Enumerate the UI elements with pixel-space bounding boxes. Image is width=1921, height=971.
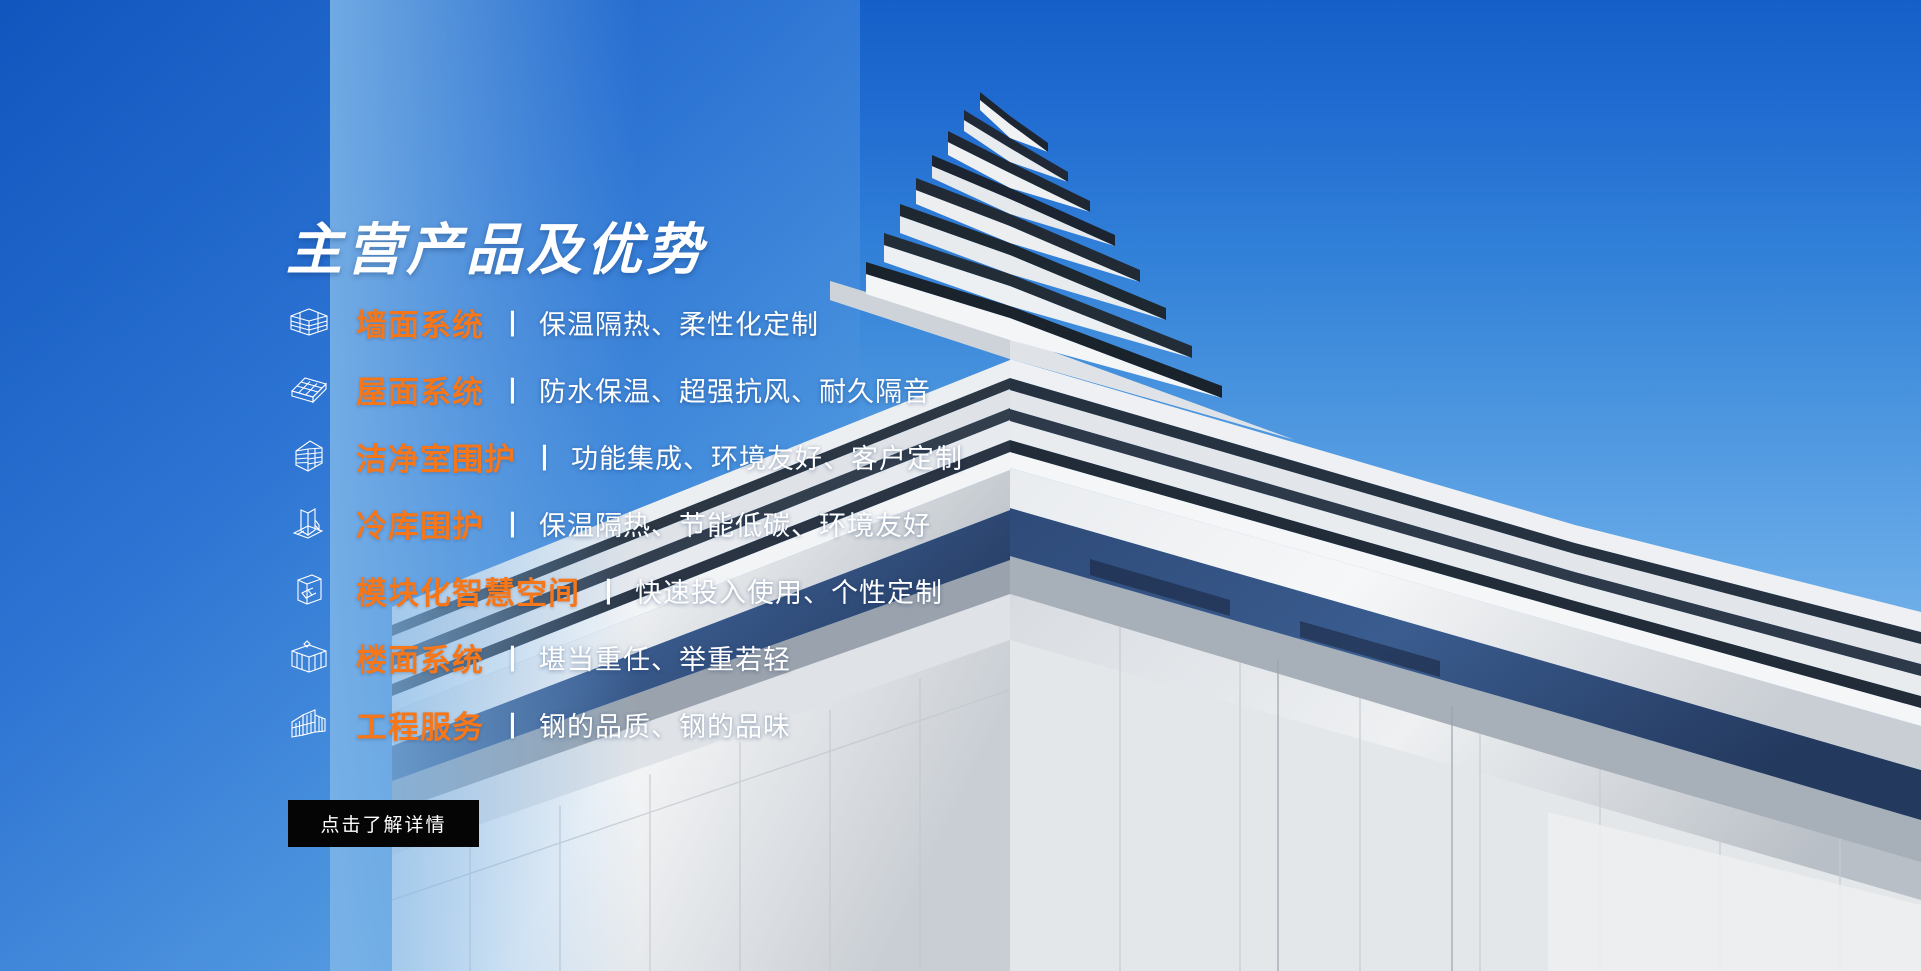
modular-cube-3d-icon: [286, 569, 332, 611]
list-item-desc: 防水保温、超强抗风、耐久隔音: [539, 370, 931, 409]
list-item-title: 工程服务: [356, 702, 484, 747]
learn-more-button[interactable]: 点击了解详情: [288, 800, 479, 847]
list-item-separator: 丨: [499, 370, 526, 409]
list-item-separator: 丨: [499, 705, 526, 744]
list-item-title: 洁净室围护: [356, 434, 516, 479]
wall-panel-3d-icon: [286, 301, 332, 343]
cold-storage-3d-icon: [286, 502, 332, 544]
list-item-desc: 钢的品质、钢的品味: [539, 705, 791, 744]
banner-stage: 主营产品及优势 墙面系统 丨 保温隔热、柔性化定制: [0, 0, 1921, 971]
list-item-desc: 快速投入使用、个性定制: [635, 571, 943, 610]
list-item-separator: 丨: [499, 638, 526, 677]
list-item-desc: 保温隔热、节能低碳、环境友好: [539, 504, 931, 543]
page-title: 主营产品及优势: [286, 205, 706, 286]
list-item[interactable]: 墙面系统 丨 保温隔热、柔性化定制: [286, 298, 1186, 346]
list-item[interactable]: 工程服务 丨 钢的品质、钢的品味: [286, 700, 1186, 748]
list-item-title: 墙面系统: [356, 300, 484, 345]
list-item-separator: 丨: [499, 303, 526, 342]
list-item-title: 楼面系统: [356, 635, 484, 680]
cold-storage-3d-icon-row[interactable]: 冷库围护 丨 保温隔热、节能低碳、环境友好: [286, 499, 1186, 547]
list-item-title: 模块化智慧空间: [356, 568, 580, 613]
list-item-separator: 丨: [531, 437, 558, 476]
list-item-desc: 功能集成、环境友好、客户定制: [571, 437, 963, 476]
list-item-separator: 丨: [499, 504, 526, 543]
engineering-service-3d-icon: [286, 703, 332, 745]
roof-panel-3d-icon: [286, 368, 332, 410]
product-list: 墙面系统 丨 保温隔热、柔性化定制 屋面系统: [286, 298, 1186, 767]
list-item[interactable]: 楼面系统 丨 堪当重任、举重若轻: [286, 633, 1186, 681]
list-item-desc: 堪当重任、举重若轻: [539, 638, 791, 677]
list-item-desc: 保温隔热、柔性化定制: [539, 303, 819, 342]
list-item-separator: 丨: [595, 571, 622, 610]
list-item[interactable]: 屋面系统 丨 防水保温、超强抗风、耐久隔音: [286, 365, 1186, 413]
list-item-title: 屋面系统: [356, 367, 484, 412]
list-item[interactable]: 模块化智慧空间 丨 快速投入使用、个性定制: [286, 566, 1186, 614]
banner-content: 主营产品及优势 墙面系统 丨 保温隔热、柔性化定制: [0, 0, 1000, 971]
cleanroom-building-3d-icon: [286, 435, 332, 477]
floor-deck-3d-icon: [286, 636, 332, 678]
list-item-title: 冷库围护: [356, 501, 484, 546]
list-item[interactable]: 洁净室围护 丨 功能集成、环境友好、客户定制: [286, 432, 1186, 480]
